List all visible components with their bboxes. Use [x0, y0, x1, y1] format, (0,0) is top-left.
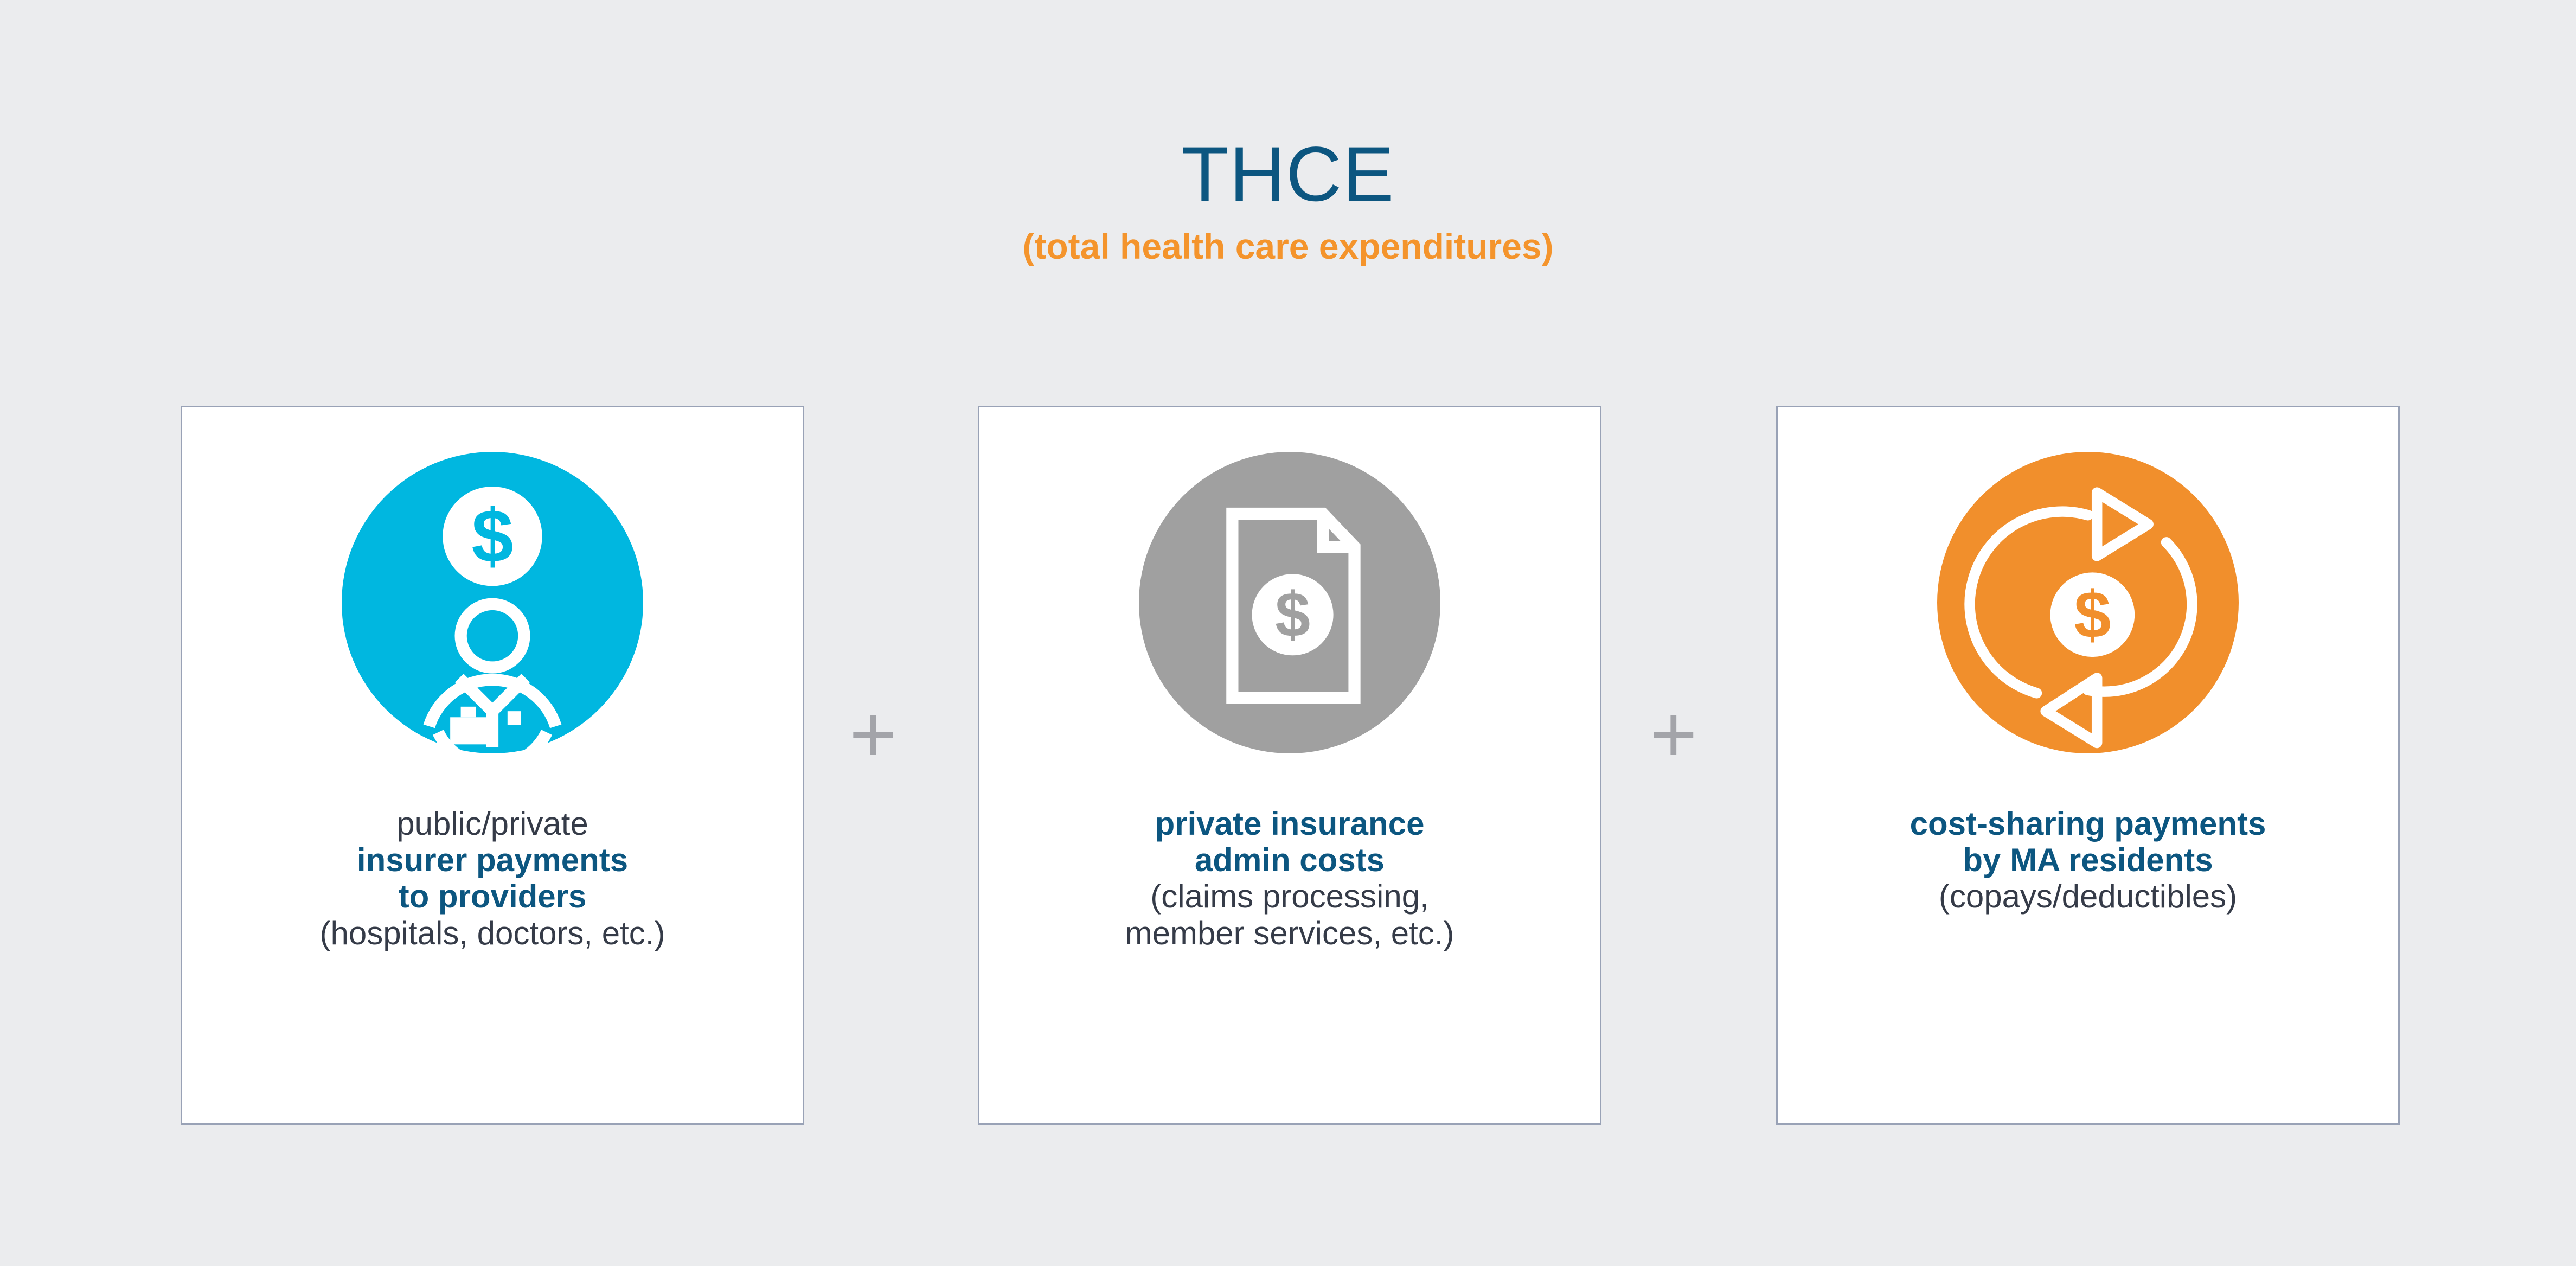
caption-line: by MA residents	[1789, 842, 2387, 878]
page-subtitle: (total health care expenditures)	[0, 228, 2576, 264]
caption-line: private insurance	[990, 805, 1589, 842]
svg-text:$: $	[2074, 578, 2111, 652]
caption-line: member services, etc.)	[990, 915, 1589, 951]
card-caption: public/private insurer payments to provi…	[182, 805, 803, 951]
plus-operator-1: +	[849, 693, 897, 775]
caption-line: (copays/deductibles)	[1789, 878, 2387, 915]
plus-operator-2: +	[1650, 693, 1697, 775]
money-cycle-arrows-icon: $	[1778, 407, 2398, 798]
diagram-canvas: THCE (total health care expenditures) $	[0, 0, 2576, 1266]
card-cost-sharing: $ cost-sharing payments by MA residents …	[1776, 406, 2400, 1125]
caption-line: to providers	[193, 878, 792, 915]
card-caption: private insurance admin costs (claims pr…	[979, 805, 1600, 951]
svg-text:$: $	[471, 494, 513, 578]
page-title: THCE	[0, 136, 2576, 213]
card-admin-costs: $ private insurance admin costs (claims …	[978, 406, 1601, 1125]
insurer-payment-person-icon: $	[182, 407, 803, 798]
card-caption: cost-sharing payments by MA residents (c…	[1778, 805, 2398, 915]
diagram-header: THCE (total health care expenditures)	[0, 136, 2576, 264]
svg-text:$: $	[1275, 579, 1310, 650]
caption-line: (claims processing,	[990, 878, 1589, 915]
caption-line: (hospitals, doctors, etc.)	[193, 915, 792, 951]
formula-cards-row: $ pu	[181, 406, 2400, 1125]
card-insurer-payments: $ pu	[181, 406, 804, 1125]
caption-line: public/private	[193, 805, 792, 842]
invoice-document-dollar-icon: $	[979, 407, 1600, 798]
caption-line: insurer payments	[193, 842, 792, 878]
caption-line: cost-sharing payments	[1789, 805, 2387, 842]
caption-line: admin costs	[990, 842, 1589, 878]
